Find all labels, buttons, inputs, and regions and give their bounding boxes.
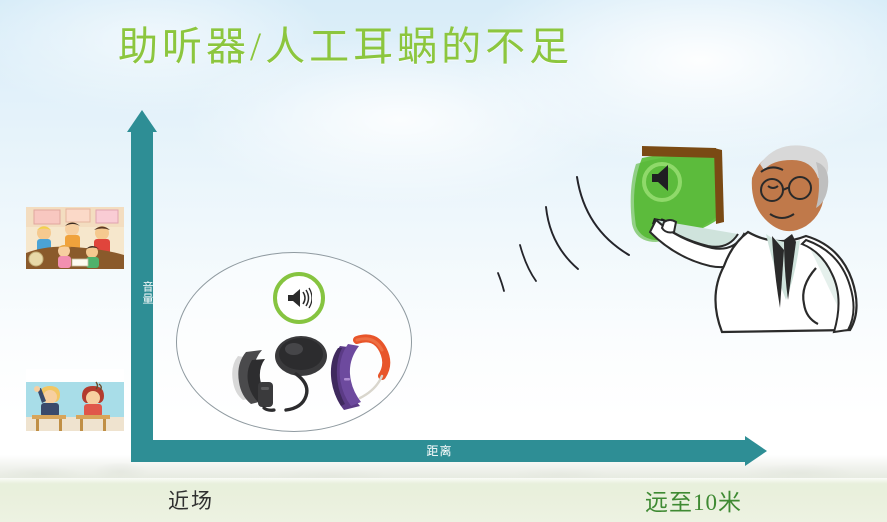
x-axis-arrowhead bbox=[745, 436, 767, 466]
y-axis-label: 音量 bbox=[131, 270, 153, 316]
slide-canvas: 助听器/人工耳蜗的不足 音量 距离 近场 远至10米 bbox=[0, 0, 887, 522]
speaker-volume-icon bbox=[273, 272, 325, 324]
near-field-caption: 近场 bbox=[168, 485, 214, 515]
teacher-with-chalkboard bbox=[620, 128, 886, 338]
students-desk-thumbnail bbox=[26, 369, 124, 431]
background-grass-field bbox=[0, 478, 887, 522]
x-axis-label: 距离 bbox=[131, 440, 748, 462]
teacher-illustration bbox=[620, 128, 886, 338]
speaker-glyph bbox=[286, 287, 312, 309]
hearing-aid-illustration bbox=[320, 328, 400, 420]
classroom-thumbnail bbox=[26, 207, 124, 269]
page-title: 助听器/人工耳蜗的不足 bbox=[118, 14, 573, 72]
classroom-illustration bbox=[26, 207, 124, 269]
students-illustration bbox=[26, 369, 124, 431]
behind-the-ear-hearing-aid bbox=[320, 328, 400, 420]
far-field-caption: 远至10米 bbox=[645, 483, 742, 517]
